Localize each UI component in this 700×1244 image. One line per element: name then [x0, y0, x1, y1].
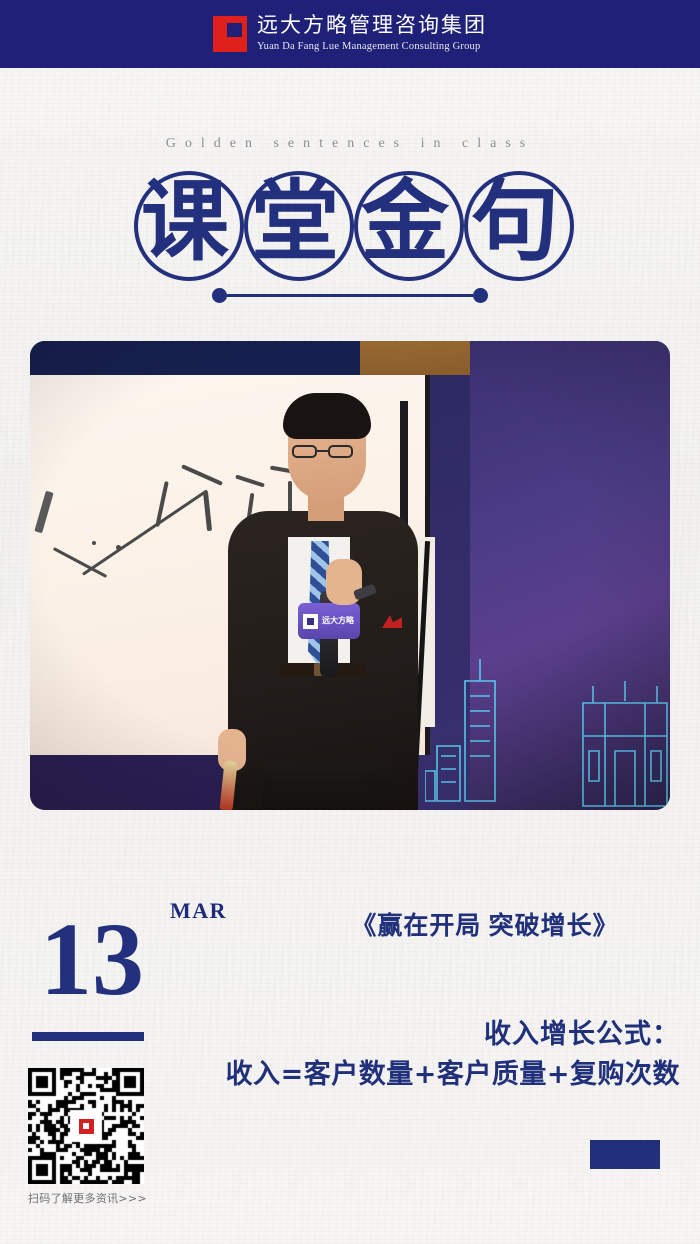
title-char-2: 堂 [241, 168, 349, 276]
title-char-4: 句 [461, 168, 569, 276]
qr-center-logo-icon [72, 1112, 100, 1140]
qr-block[interactable]: 扫码了解更多资讯>>> [28, 1068, 168, 1206]
course-title: 《赢在开局 突破增长》 [300, 906, 670, 942]
title-char-2-text: 堂 [251, 178, 339, 266]
title-char-1: 课 [131, 168, 239, 276]
divider-bar [227, 294, 473, 297]
divider-dot-left [212, 288, 227, 303]
date-underline [32, 1032, 144, 1041]
quote-line-1: 收入增长公式： [280, 1012, 680, 1051]
qr-code[interactable] [28, 1068, 144, 1184]
title-divider [0, 288, 700, 303]
title-char-4-text: 句 [471, 178, 559, 266]
date-month: MAR [170, 898, 227, 924]
brand-block: 远大方略管理咨询集团 Yuan Da Fang Lue Management C… [213, 15, 487, 53]
title-char-3-text: 金 [361, 178, 449, 266]
company-name-en: Yuan Da Fang Lue Management Consulting G… [257, 42, 487, 53]
company-logo-icon [213, 16, 247, 52]
title-char-1-text: 课 [141, 178, 229, 266]
speaker-photo: 远大方略 [30, 341, 670, 810]
company-name-cn: 远大方略管理咨询集团 [257, 15, 487, 36]
photo-vignette [30, 341, 670, 810]
quote-line-2: 收入=客户数量+客户质量+复购次数 [180, 1052, 680, 1091]
page-header: 远大方略管理咨询集团 Yuan Da Fang Lue Management C… [0, 0, 700, 68]
title-char-3: 金 [351, 168, 459, 276]
qr-caption: 扫码了解更多资讯>>> [28, 1190, 168, 1206]
date-day: 13 [40, 908, 144, 1012]
decorative-rectangle [590, 1140, 660, 1169]
main-title: 课 堂 金 句 [0, 168, 700, 276]
brand-text: 远大方略管理咨询集团 Yuan Da Fang Lue Management C… [257, 15, 487, 53]
title-eyebrow: Golden sentences in class [0, 136, 700, 152]
divider-dot-right [473, 288, 488, 303]
